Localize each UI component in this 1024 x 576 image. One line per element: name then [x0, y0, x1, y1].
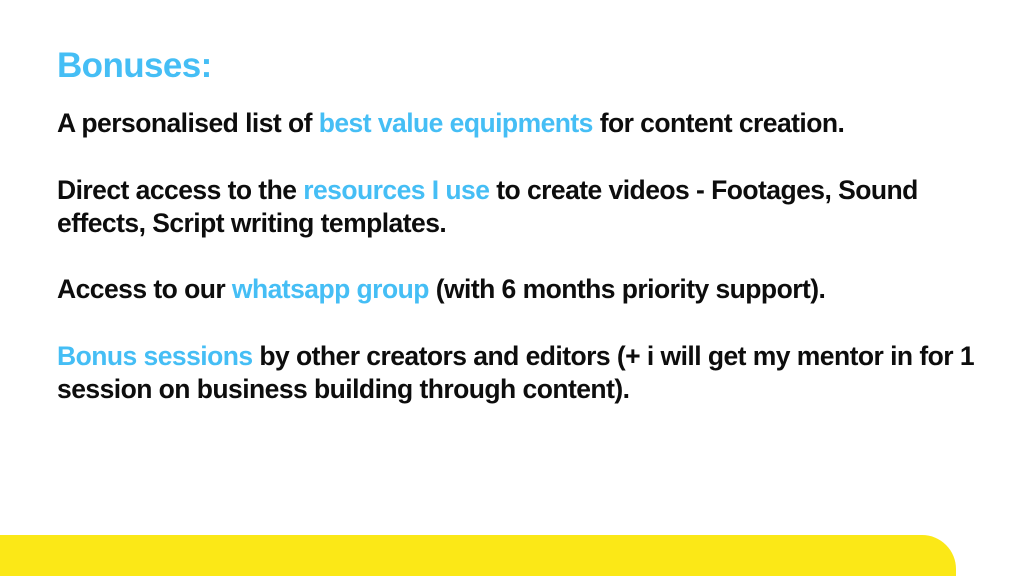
highlight-text-bonus-sessions-0: Bonus sessions: [57, 341, 253, 371]
slide-content: Bonuses: A personalised list of best val…: [57, 46, 984, 406]
page-title: Bonuses:: [57, 46, 984, 85]
highlight-text-resources-access-1: resources I use: [303, 175, 489, 205]
bonus-paragraph-bonus-sessions: Bonus sessions by other creators and edi…: [57, 340, 984, 407]
highlight-text-equipment-list-1: best value equipments: [319, 108, 593, 138]
footer-accent-bar: [0, 535, 956, 576]
bonus-paragraph-resources-access: Direct access to the resources I use to …: [57, 174, 984, 241]
bonus-paragraph-list: A personalised list of best value equipm…: [57, 107, 984, 406]
highlight-text-whatsapp-access-1: whatsapp group: [232, 274, 429, 304]
body-text-whatsapp-access-0: Access to our: [57, 274, 232, 304]
slide-canvas: Bonuses: A personalised list of best val…: [0, 0, 1024, 576]
body-text-equipment-list-0: A personalised list of: [57, 108, 319, 138]
body-text-whatsapp-access-2: (with 6 months priority support).: [429, 274, 825, 304]
body-text-equipment-list-2: for content creation.: [593, 108, 844, 138]
bonus-paragraph-whatsapp-access: Access to our whatsapp group (with 6 mon…: [57, 273, 984, 306]
bonus-paragraph-equipment-list: A personalised list of best value equipm…: [57, 107, 984, 140]
body-text-resources-access-0: Direct access to the: [57, 175, 303, 205]
